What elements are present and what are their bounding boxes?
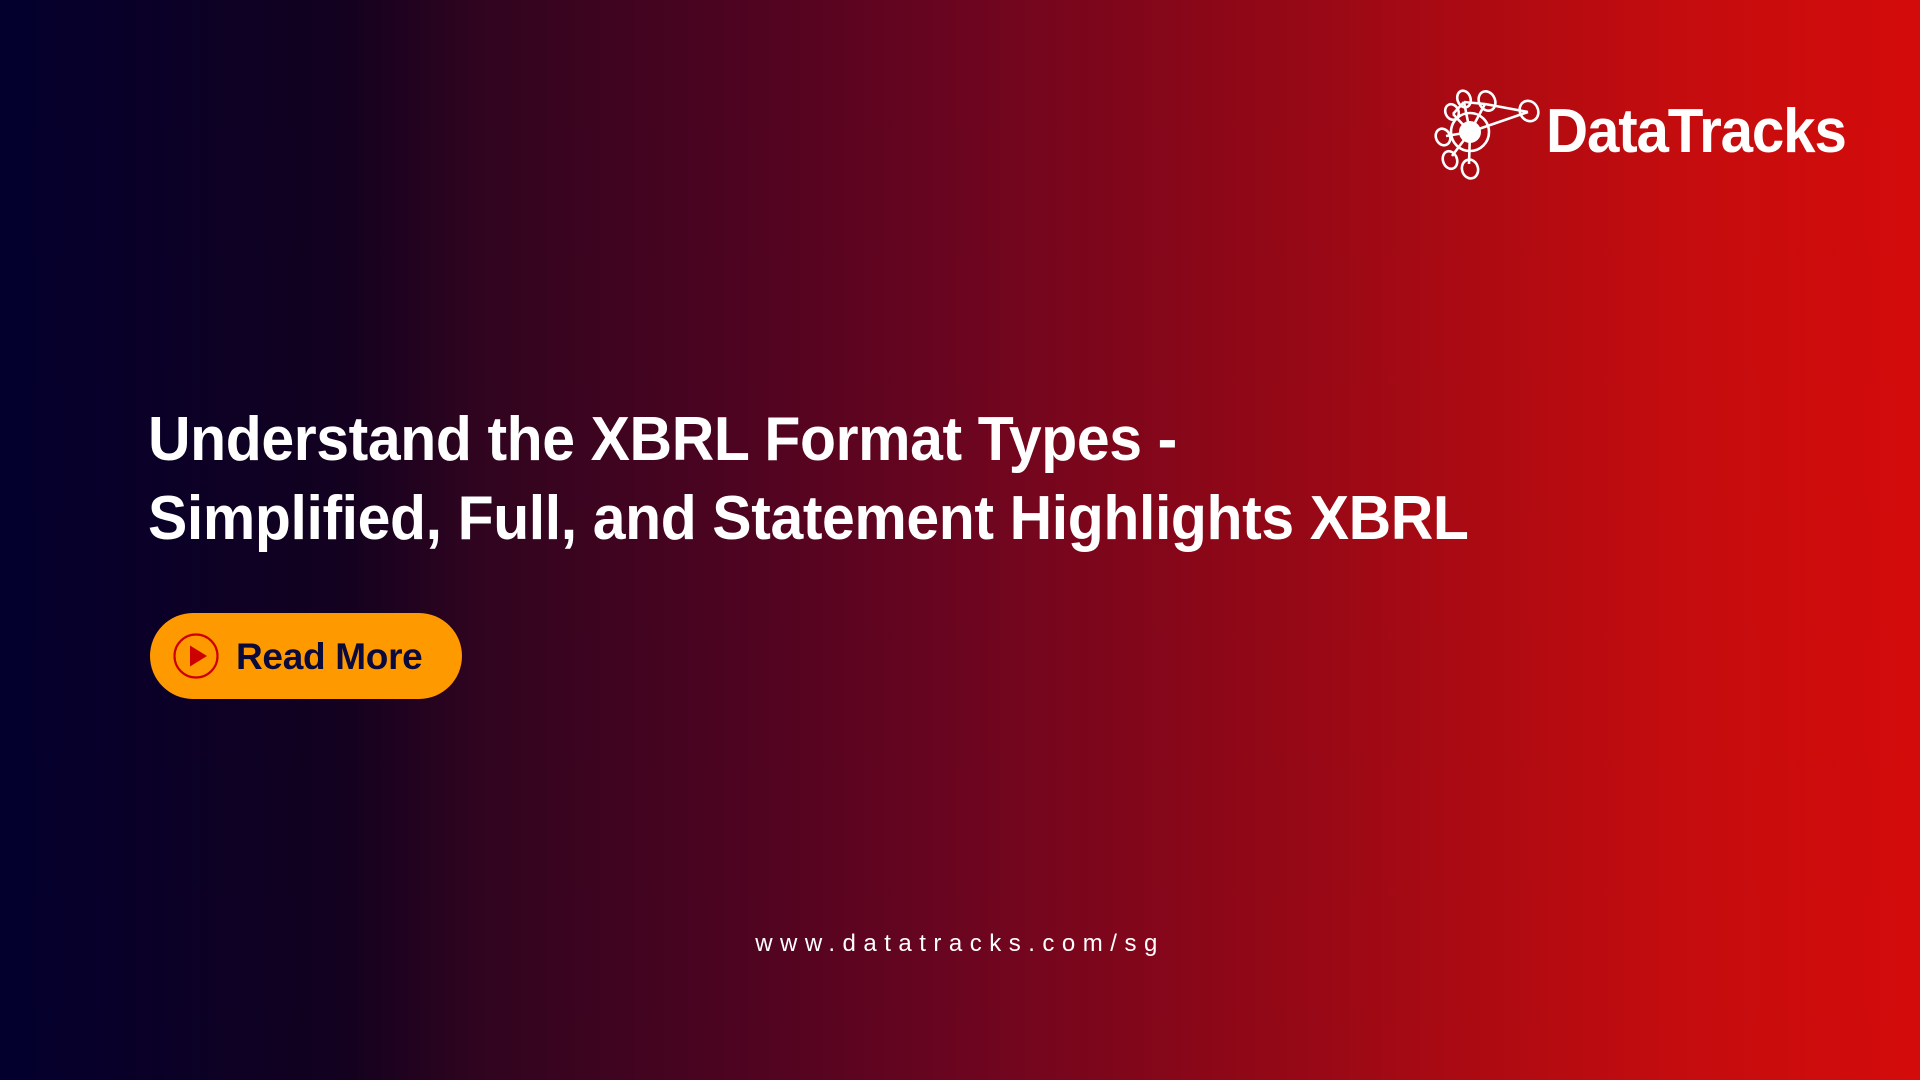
brand-logo[interactable]: DataTracks (1430, 84, 1865, 180)
network-nodes-icon (1430, 84, 1540, 180)
logo-wordmark: DataTracks (1546, 101, 1846, 163)
page-title-line-1: Understand the XBRL Format Types - (148, 400, 1630, 479)
page-title: Understand the XBRL Format Types - Simpl… (148, 400, 1630, 559)
promo-banner: DataTracks Understand the XBRL Format Ty… (0, 0, 1920, 1080)
read-more-label: Read More (236, 638, 422, 675)
page-title-line-2: Simplified, Full, and Statement Highligh… (148, 479, 1630, 558)
play-circle-icon (172, 632, 220, 680)
website-url[interactable]: www.datatracks.com/sg (0, 930, 1920, 958)
read-more-button[interactable]: Read More (150, 613, 462, 699)
